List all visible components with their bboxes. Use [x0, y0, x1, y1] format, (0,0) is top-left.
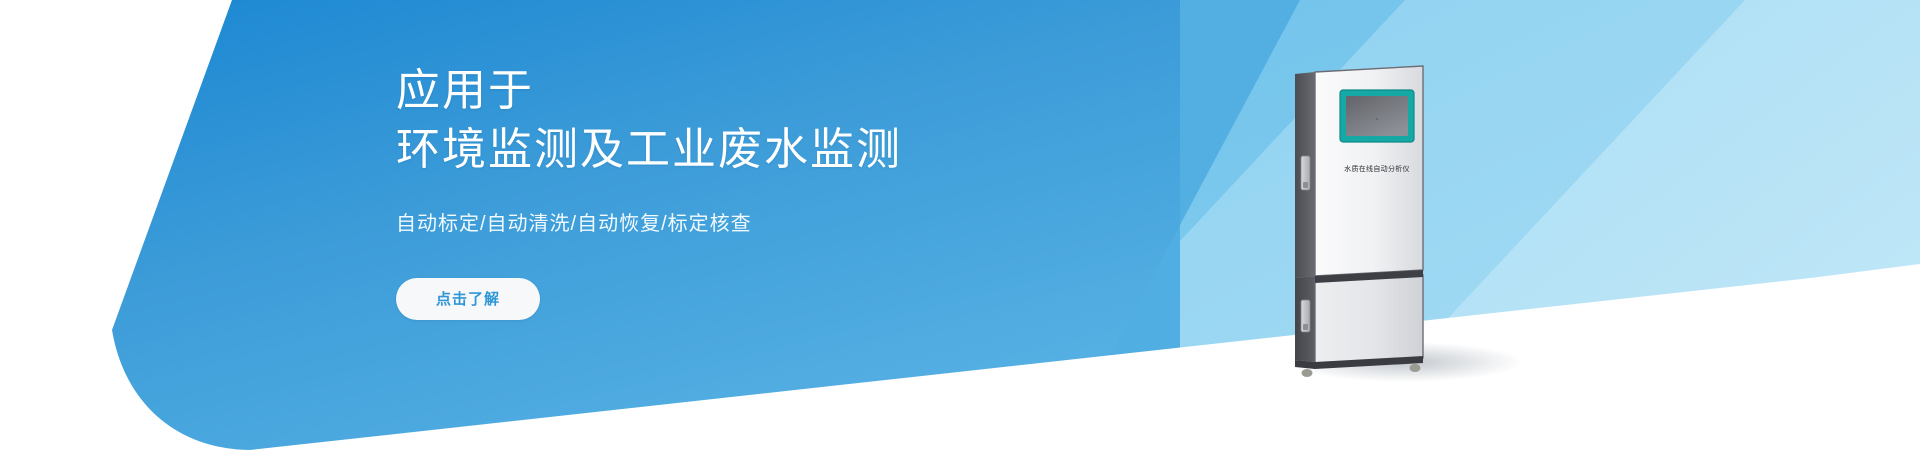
caster-right	[1410, 364, 1421, 372]
learn-more-button[interactable]: 点击了解	[396, 278, 540, 320]
hero-banner: 应用于 环境监测及工业废水监测 自动标定/自动清洗/自动恢复/标定核查 点击了解	[0, 0, 1920, 450]
screen-dot	[1376, 118, 1378, 120]
headline-line-2: 环境监测及工业废水监测	[396, 121, 1156, 180]
lower-handle-detail	[1303, 324, 1308, 330]
cabinet-lower-door	[1315, 275, 1423, 364]
caster-left	[1302, 369, 1313, 377]
product-image	[1293, 62, 1475, 382]
display-screen	[1346, 96, 1408, 136]
upper-handle-detail	[1303, 182, 1308, 188]
page-title: 应用于 环境监测及工业废水监测	[396, 62, 1156, 180]
hero-copy: 应用于 环境监测及工业废水监测 自动标定/自动清洗/自动恢复/标定核查 点击了解	[396, 62, 1156, 320]
hero-subtitle: 自动标定/自动清洗/自动恢复/标定核查	[396, 210, 1156, 238]
headline-line-1: 应用于	[396, 62, 1156, 121]
analyzer-cabinet-illustration	[1293, 62, 1475, 382]
